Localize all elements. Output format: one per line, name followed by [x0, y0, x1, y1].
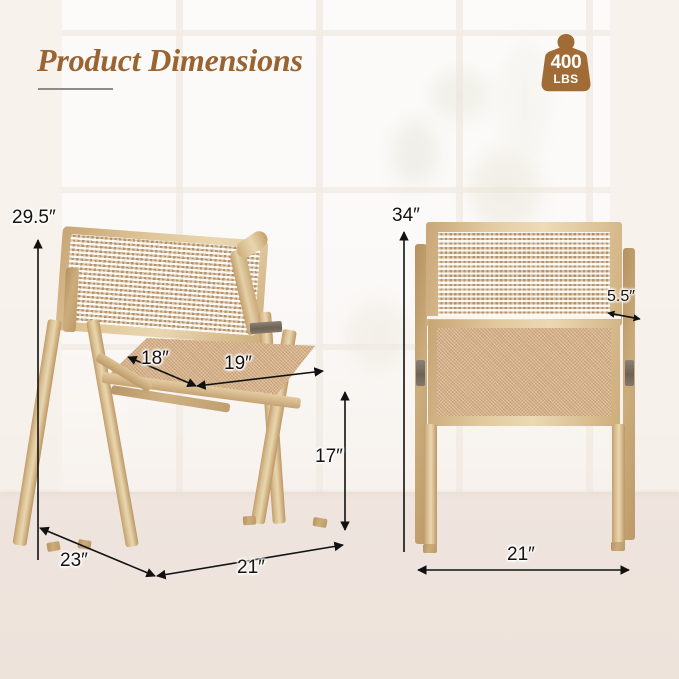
- product-dimensions-infographic: Product Dimensions 400 LBS: [0, 0, 679, 679]
- folded-hinge-left: [416, 360, 425, 386]
- dim-label-overall-height: 29.5″: [12, 207, 56, 229]
- background-foliage: [348, 300, 408, 370]
- title-underline: [38, 88, 113, 90]
- foot-front-left: [77, 539, 91, 550]
- background-foliage: [392, 120, 438, 186]
- folded-front-leg-right: [612, 424, 625, 548]
- background-foliage: [470, 150, 540, 230]
- page-title: Product Dimensions: [37, 42, 303, 79]
- badge-weight-value: 400: [533, 52, 599, 74]
- dim-label-seat-height: 17″: [315, 446, 343, 468]
- folded-backrest-cane-panel: [438, 232, 610, 316]
- folded-foot-right: [611, 542, 625, 551]
- floor-wall-seam: [0, 492, 679, 494]
- folded-foot-left: [423, 544, 437, 553]
- dim-label-seat-width: 19″: [224, 353, 252, 375]
- dim-label-folded-height: 34″: [392, 205, 420, 227]
- folded-front-leg-left: [424, 424, 437, 550]
- folded-seat-panel: [437, 328, 611, 416]
- fold-seam: [427, 316, 621, 319]
- dim-label-base-depth: 23″: [60, 550, 88, 572]
- dim-label-seat-depth: 18″: [141, 348, 169, 370]
- dim-label-folded-thickness: 5.5″: [607, 288, 635, 306]
- floor-surface: [0, 492, 679, 679]
- weight-capacity-badge: 400 LBS: [533, 31, 599, 97]
- hinge-bracket: [250, 321, 283, 334]
- dim-label-base-width: 21″: [237, 557, 265, 579]
- folded-hinge-right: [625, 360, 634, 386]
- dim-label-folded-width: 21″: [507, 544, 535, 566]
- badge-weight-unit: LBS: [533, 72, 599, 86]
- foot-rear-right: [243, 516, 257, 526]
- background-foliage: [430, 70, 490, 120]
